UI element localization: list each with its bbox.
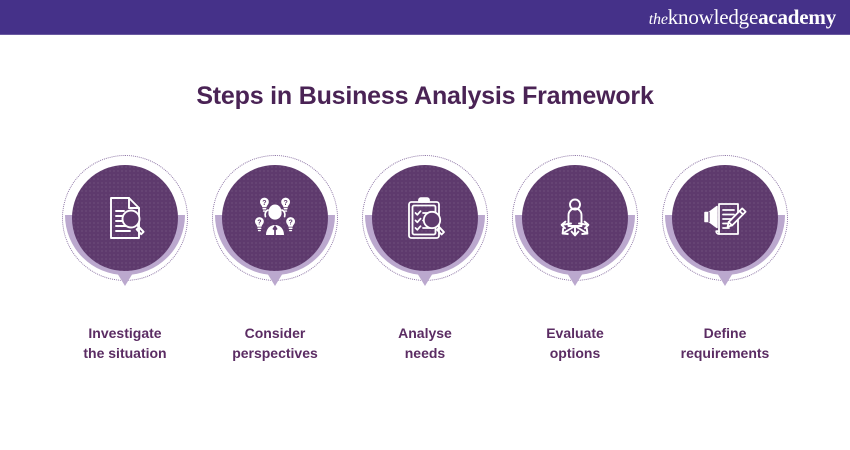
step-badge: [355, 155, 495, 305]
svg-text:?: ?: [283, 200, 287, 207]
step-badge: [655, 155, 795, 305]
step-item-evaluate[interactable]: Evaluate options: [500, 155, 650, 364]
step-label: Define requirements: [681, 323, 770, 364]
step-badge: [55, 155, 195, 305]
step-item-consider[interactable]: ? ? ? ? Consider perspectives: [200, 155, 350, 364]
step-badge: [505, 155, 645, 305]
step-badge: ? ? ? ?: [205, 155, 345, 305]
page-header: theknowledgeacademy: [0, 0, 850, 35]
clipboard-checklist-magnifier-icon: [398, 192, 452, 244]
step-disc: [372, 165, 478, 271]
page-title: Steps in Business Analysis Framework: [0, 82, 850, 111]
step-label: Evaluate options: [546, 323, 604, 364]
document-magnifier-icon: [99, 192, 151, 244]
step-disc: [72, 165, 178, 271]
svg-text:?: ?: [288, 220, 292, 227]
step-label: Analyse needs: [398, 323, 452, 364]
svg-text:?: ?: [262, 200, 266, 207]
step-item-investigate[interactable]: Investigate the situation: [50, 155, 200, 364]
logo-word-the: the: [649, 11, 668, 28]
steps-row: Investigate the situation: [0, 155, 850, 375]
step-disc: ? ? ? ?: [222, 165, 328, 271]
svg-text:?: ?: [257, 220, 261, 227]
step-item-define[interactable]: Define requirements: [650, 155, 800, 364]
step-label: Investigate the situation: [83, 323, 166, 364]
person-branching-arrows-icon: [549, 192, 601, 244]
step-disc: [522, 165, 628, 271]
step-disc: [672, 165, 778, 271]
step-label: Consider perspectives: [232, 323, 318, 364]
brand-logo[interactable]: theknowledgeacademy: [649, 7, 836, 28]
logo-word-academy: academy: [758, 5, 836, 29]
logo-word-knowledge: knowledge: [668, 5, 758, 29]
megaphone-document-pencil-icon: [698, 192, 752, 244]
step-item-analyse[interactable]: Analyse needs: [350, 155, 500, 364]
person-question-bulbs-icon: ? ? ? ?: [248, 192, 302, 244]
